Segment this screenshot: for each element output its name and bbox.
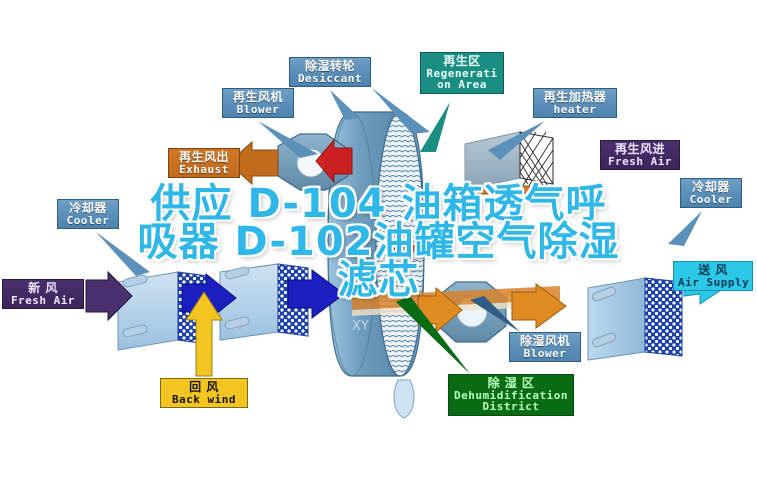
- label-cn: 再生区: [425, 55, 499, 68]
- label-en: Blower: [514, 348, 576, 360]
- label-cn: 再生风进: [605, 143, 675, 156]
- label-en: Desiccant: [294, 73, 366, 85]
- label-dehumidification-blower: 除湿风机 Blower: [509, 332, 581, 362]
- schematic-artwork: XY: [0, 0, 757, 488]
- label-cn: 冷却器: [62, 202, 114, 215]
- svg-text:XY: XY: [352, 319, 369, 334]
- label-cooler-right: 冷却器 Cooler: [680, 178, 742, 208]
- label-dehumidification-district: 除 湿 区 Dehumidification District: [448, 374, 574, 416]
- label-air-supply: 送 风 Air Supply: [673, 261, 753, 291]
- label-en: Cooler: [62, 215, 114, 227]
- label-en-line2: on Area: [425, 79, 499, 91]
- label-regeneration-fresh-air-inlet: 再生风进 Fresh Air: [600, 140, 680, 170]
- label-en: Air Supply: [678, 277, 748, 289]
- label-cn: 除湿转轮: [294, 60, 366, 73]
- label-regeneration-blower: 再生风机 Blower: [222, 88, 294, 118]
- label-en: Blower: [227, 104, 289, 116]
- label-en-line2: District: [453, 401, 569, 413]
- label-regeneration-heater: 再生加热器 heater: [533, 88, 617, 118]
- label-cn: 再生风机: [227, 91, 289, 104]
- label-cn: 送 风: [678, 264, 748, 277]
- label-en: Fresh Air: [7, 295, 79, 307]
- label-en: heater: [538, 104, 612, 116]
- label-cn: 新 风: [7, 282, 79, 295]
- label-en: Fresh Air: [605, 156, 675, 168]
- label-cn: 回 风: [165, 381, 243, 394]
- label-cn: 再生风出: [173, 151, 235, 164]
- diagram-canvas: XY: [0, 0, 757, 488]
- label-fresh-air-inlet: 新 风 Fresh Air: [2, 279, 84, 309]
- label-en: Back wind: [165, 394, 243, 406]
- label-cn: 冷却器: [685, 181, 737, 194]
- label-regeneration-area: 再生区 Regenerati on Area: [420, 52, 504, 94]
- label-en: Cooler: [685, 194, 737, 206]
- label-desiccant-wheel: 除湿转轮 Desiccant: [289, 57, 371, 87]
- label-cn: 再生加热器: [538, 91, 612, 104]
- label-cn: 除 湿 区: [453, 377, 569, 390]
- label-cn: 除湿风机: [514, 335, 576, 348]
- label-back-wind: 回 风 Back wind: [160, 378, 248, 408]
- cooler-coil-right: [588, 278, 682, 360]
- label-en: Exhaust: [173, 164, 235, 176]
- label-exhaust: 再生风出 Exhaust: [168, 148, 240, 178]
- label-cooler-left: 冷却器 Cooler: [57, 199, 119, 229]
